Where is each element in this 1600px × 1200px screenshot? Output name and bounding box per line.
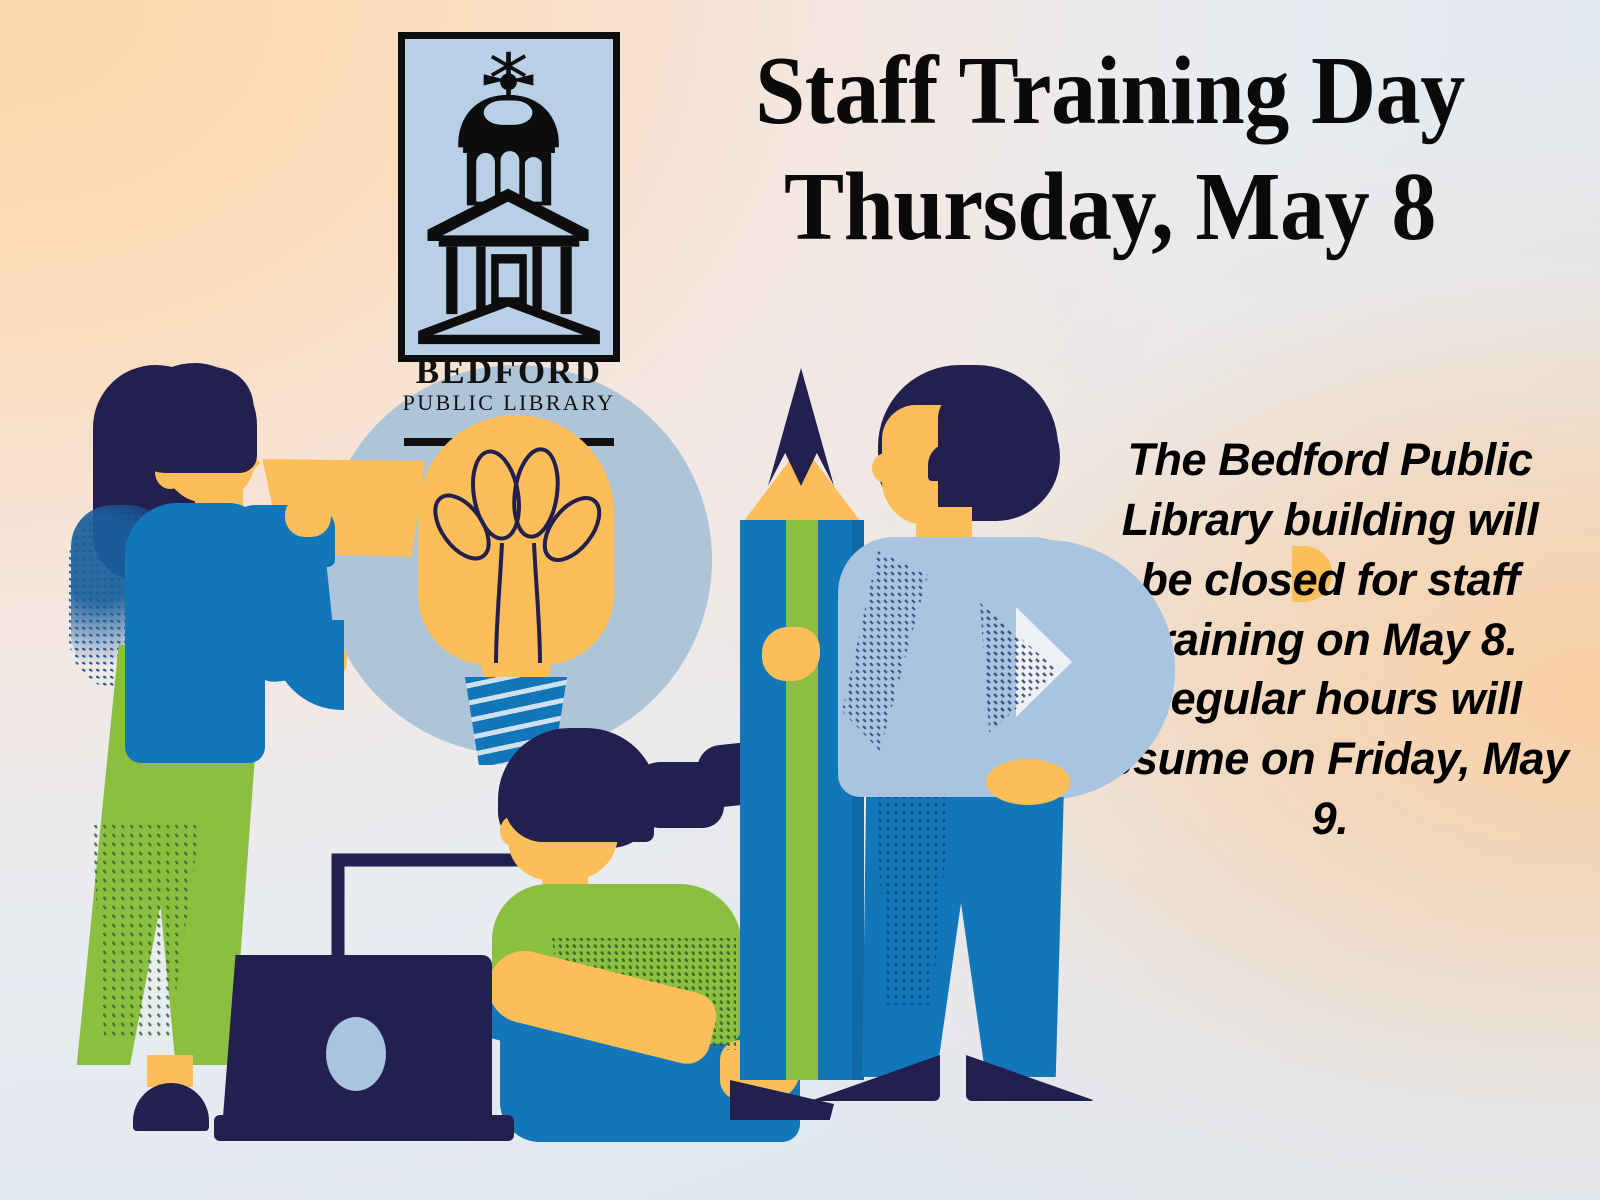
man-hand-on-hip bbox=[986, 759, 1070, 805]
laptop-icon bbox=[222, 955, 522, 1145]
pencil-green-stripe bbox=[786, 520, 818, 1080]
laptop-base bbox=[214, 1115, 514, 1141]
logo-frame bbox=[398, 32, 620, 362]
poster-canvas: BEDFORD PUBLIC LIBRARY Staff Training Da… bbox=[0, 0, 1600, 1200]
library-cupola-building-icon bbox=[405, 39, 613, 355]
man-hand-on-pencil bbox=[762, 627, 820, 681]
woman-hand-upper bbox=[285, 495, 331, 537]
woman-shoe bbox=[133, 1083, 209, 1131]
bedford-public-library-logo: BEDFORD PUBLIC LIBRARY bbox=[398, 32, 620, 422]
logo-wordmark: BEDFORD PUBLIC LIBRARY bbox=[398, 354, 620, 415]
laptop-logo-oval bbox=[326, 1017, 386, 1091]
headline-line-2: Thursday, May 8 bbox=[696, 150, 1524, 266]
lightbulb-filament bbox=[400, 415, 640, 675]
page-title: Staff Training Day Thursday, May 8 bbox=[696, 34, 1524, 265]
lightbulb-icon bbox=[400, 415, 640, 765]
woman-glasses-icon bbox=[202, 437, 236, 471]
man-standing-hand-on-hip bbox=[820, 355, 1130, 1155]
logo-word-bedford: BEDFORD bbox=[398, 354, 620, 390]
headline-line-1: Staff Training Day bbox=[755, 37, 1465, 145]
logo-word-public-library: PUBLIC LIBRARY bbox=[398, 390, 620, 415]
